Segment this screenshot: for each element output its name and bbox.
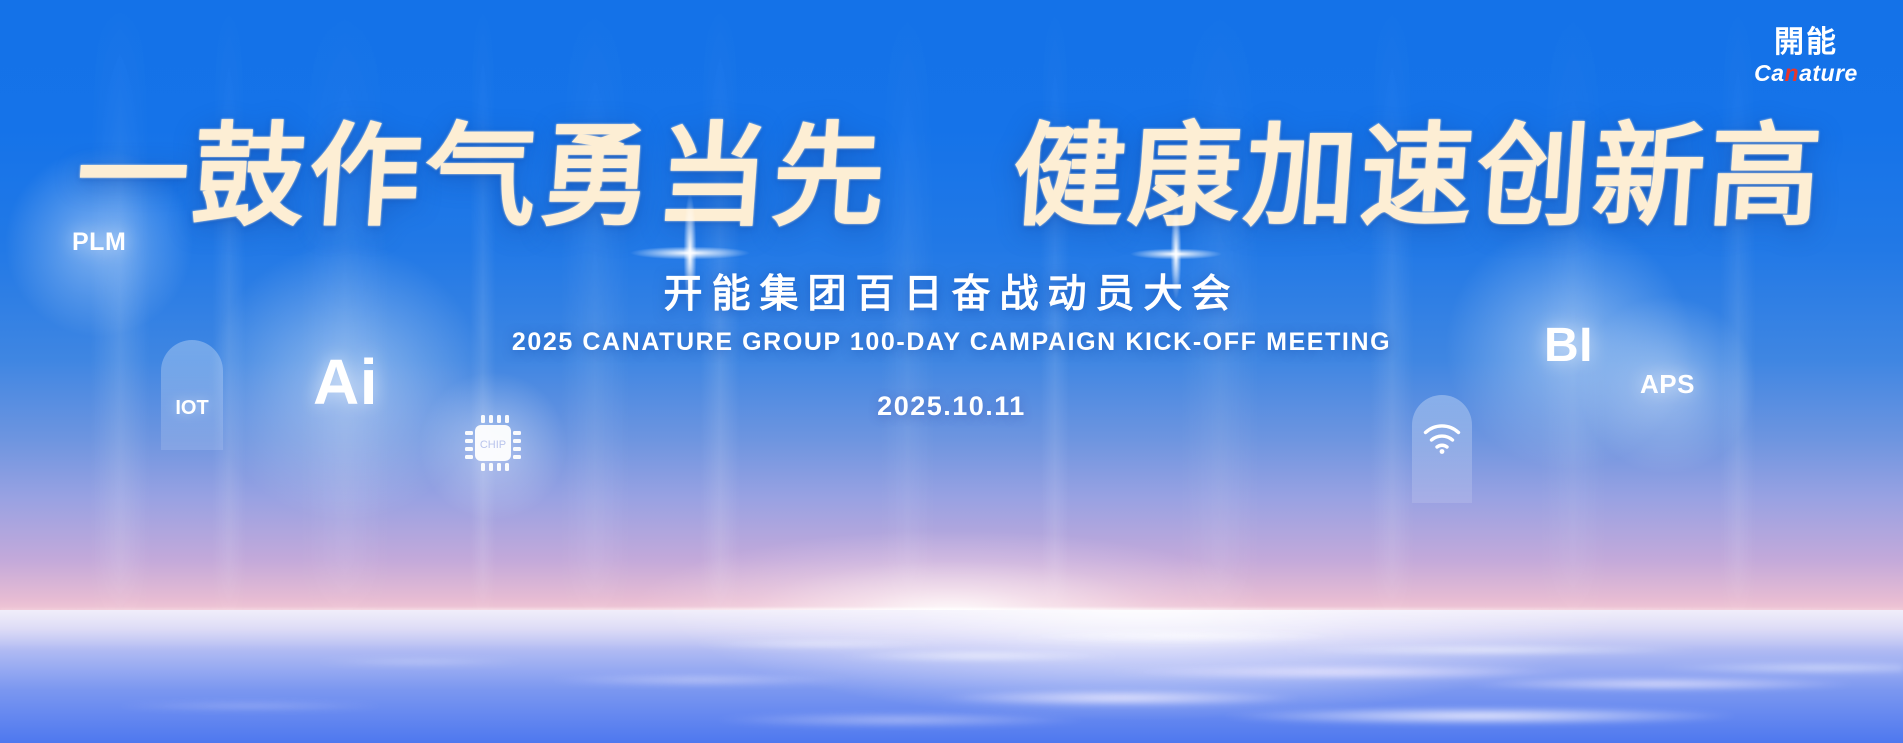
- brand-logo-en-part1: Ca: [1754, 60, 1784, 86]
- brand-logo-en-part2: ature: [1799, 60, 1858, 86]
- wifi-icon: [1422, 421, 1462, 455]
- brand-logo-chinese: 開能: [1731, 28, 1881, 58]
- banner-headline: 一鼓作气勇当先 健康加速创新高: [0, 86, 1903, 248]
- tech-badge-chip[interactable]: CHIP: [462, 412, 524, 479]
- brand-logo-en-accent: n: [1785, 60, 1800, 86]
- banner-canvas: PLM IOT Ai: [0, 0, 1903, 743]
- subtitle-chinese: 开能集团百日奋战动员大会: [0, 263, 1903, 319]
- brand-logo-english: Canature: [1731, 62, 1881, 85]
- water-surface: [0, 610, 1903, 743]
- event-date: 2025.10.11: [0, 391, 1903, 422]
- brand-logo[interactable]: 開能 Canature: [1731, 28, 1881, 85]
- chip-icon-label: CHIP: [480, 439, 506, 451]
- headline-right: 健康加速创新高: [1008, 111, 1829, 242]
- water-ripples-decoration: [0, 610, 1903, 743]
- headline-left: 一鼓作气勇当先: [72, 111, 893, 242]
- subtitle-english: 2025 CANATURE GROUP 100-DAY CAMPAIGN KIC…: [0, 328, 1903, 357]
